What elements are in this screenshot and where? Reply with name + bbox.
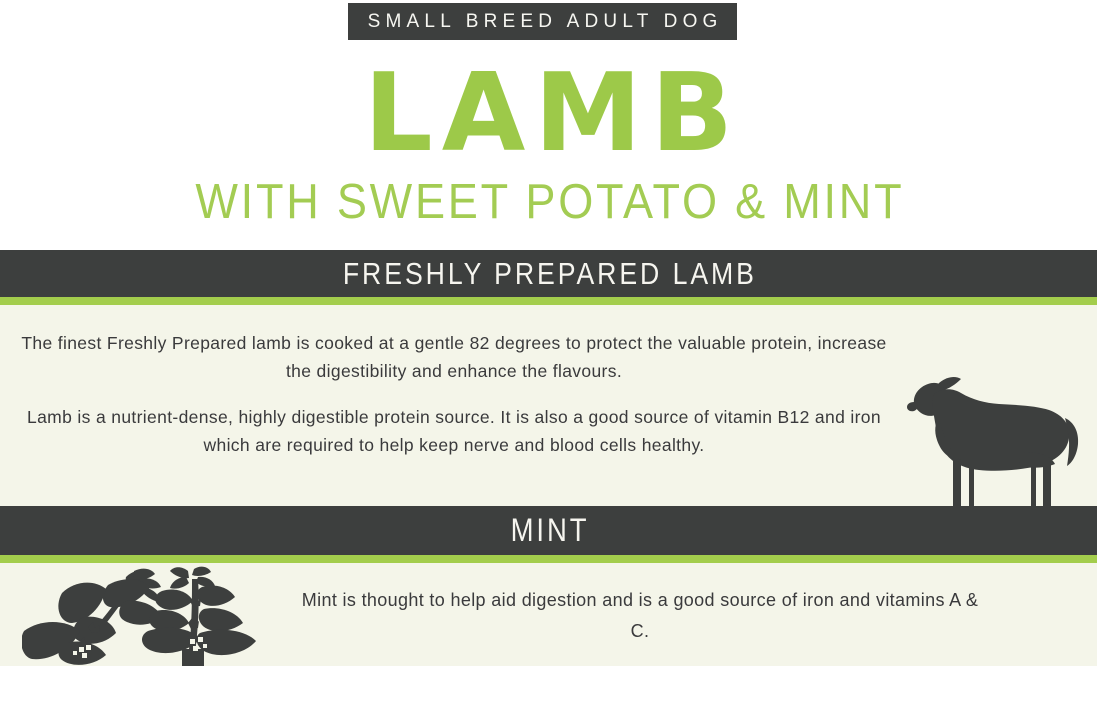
- lamb-description: The finest Freshly Prepared lamb is cook…: [14, 330, 894, 460]
- product-info-panel: SMALL BREED ADULT DOG LAMB WITH SWEET PO…: [0, 0, 1097, 718]
- product-category-label: SMALL BREED ADULT DOG: [362, 11, 722, 33]
- mint-plant-silhouette-icon: [22, 565, 270, 666]
- section-header-freshly-prepared-lamb: FRESHLY PREPARED LAMB: [0, 250, 1097, 297]
- lamb-paragraph-2: Lamb is a nutrient-dense, highly digesti…: [14, 404, 894, 459]
- section-body-mint: Mint is thought to help aid digestion an…: [0, 563, 1097, 666]
- section-body-freshly-prepared-lamb: The finest Freshly Prepared lamb is cook…: [0, 305, 1097, 506]
- mint-description: Mint is thought to help aid digestion an…: [300, 585, 980, 647]
- section-accent-stripe-mint: [0, 555, 1097, 563]
- page-title: LAMB: [0, 60, 1097, 168]
- sheep-silhouette-icon: [895, 356, 1091, 506]
- hero-section: SMALL BREED ADULT DOG LAMB WITH SWEET PO…: [0, 0, 1097, 250]
- section-accent-stripe-lamb: [0, 297, 1097, 305]
- lamb-paragraph-1: The finest Freshly Prepared lamb is cook…: [14, 330, 894, 385]
- section-header-label: FRESHLY PREPARED LAMB: [340, 256, 757, 292]
- product-category-badge: SMALL BREED ADULT DOG: [348, 3, 737, 40]
- mint-paragraph-1: Mint is thought to help aid digestion an…: [300, 585, 980, 647]
- section-header-label: MINT: [508, 512, 590, 549]
- page-subtitle: WITH SWEET POTATO & MINT: [44, 178, 1053, 227]
- section-header-mint: MINT: [0, 506, 1097, 555]
